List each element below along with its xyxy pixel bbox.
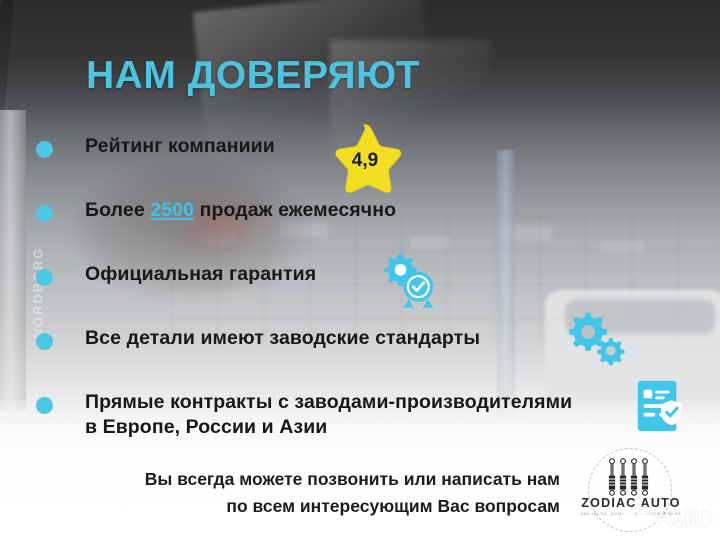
document-shield-icon-svg — [632, 379, 686, 433]
bullet-dot-icon — [36, 333, 53, 350]
gear-award-icon — [378, 252, 438, 310]
list-item-label: Официальная гарантия — [85, 262, 316, 287]
list-item-sales: Более 2500 продаж ежемесячно — [36, 198, 696, 238]
list-item-label: Прямые контракты с заводами-производител… — [85, 390, 572, 440]
gears-icon — [568, 312, 626, 368]
contracts-line-2: в Европе, России и Азии — [85, 416, 327, 438]
gear-award-icon-svg — [378, 252, 438, 310]
slide-content: НАМ ДОВЕРЯЮТ Рейтинг компаниии Более 250… — [0, 0, 720, 540]
promo-slide: NORDBERG НАМ ДОВЕРЯЮТ Рейтинг компаниии … — [0, 0, 720, 540]
list-item-direct-contracts: Прямые контракты с заводами-производител… — [36, 390, 696, 440]
bullet-dot-icon — [36, 397, 53, 414]
rating-value: 4,9 — [328, 150, 402, 172]
list-item-warranty: Официальная гарантия — [36, 262, 696, 302]
sales-count-highlight: 2500 — [150, 199, 194, 221]
list-item-label: Более 2500 продаж ежемесячно — [85, 198, 396, 223]
bullet-dot-icon — [36, 269, 53, 286]
rating-star-badge: 4,9 — [328, 122, 402, 194]
avito-watermark: Avito — [622, 502, 712, 533]
sales-text-post: продаж ежемесячно — [194, 199, 396, 221]
contracts-line-1: Прямые контракты с заводами-производител… — [85, 391, 572, 413]
sales-text-pre: Более — [85, 199, 150, 221]
bullet-dot-icon — [36, 205, 53, 222]
document-shield-icon — [632, 379, 686, 433]
avito-logo-icon — [622, 505, 652, 531]
gears-icon-svg — [568, 312, 626, 368]
footnote-line-1: Вы всегда можете позвонить или написать … — [60, 466, 560, 493]
contact-footnote: Вы всегда можете позвонить или написать … — [60, 466, 560, 520]
shock-absorbers-icon — [606, 458, 654, 498]
list-item-label: Рейтинг компаниии — [85, 134, 275, 159]
page-title: НАМ ДОВЕРЯЮТ — [86, 54, 420, 98]
list-item-label: Все детали имеют заводские стандарты — [85, 326, 480, 351]
avito-watermark-text: Avito — [655, 502, 712, 533]
footnote-line-2: по всем интересующим Вас вопросам — [60, 493, 560, 520]
bullet-dot-icon — [36, 141, 53, 158]
